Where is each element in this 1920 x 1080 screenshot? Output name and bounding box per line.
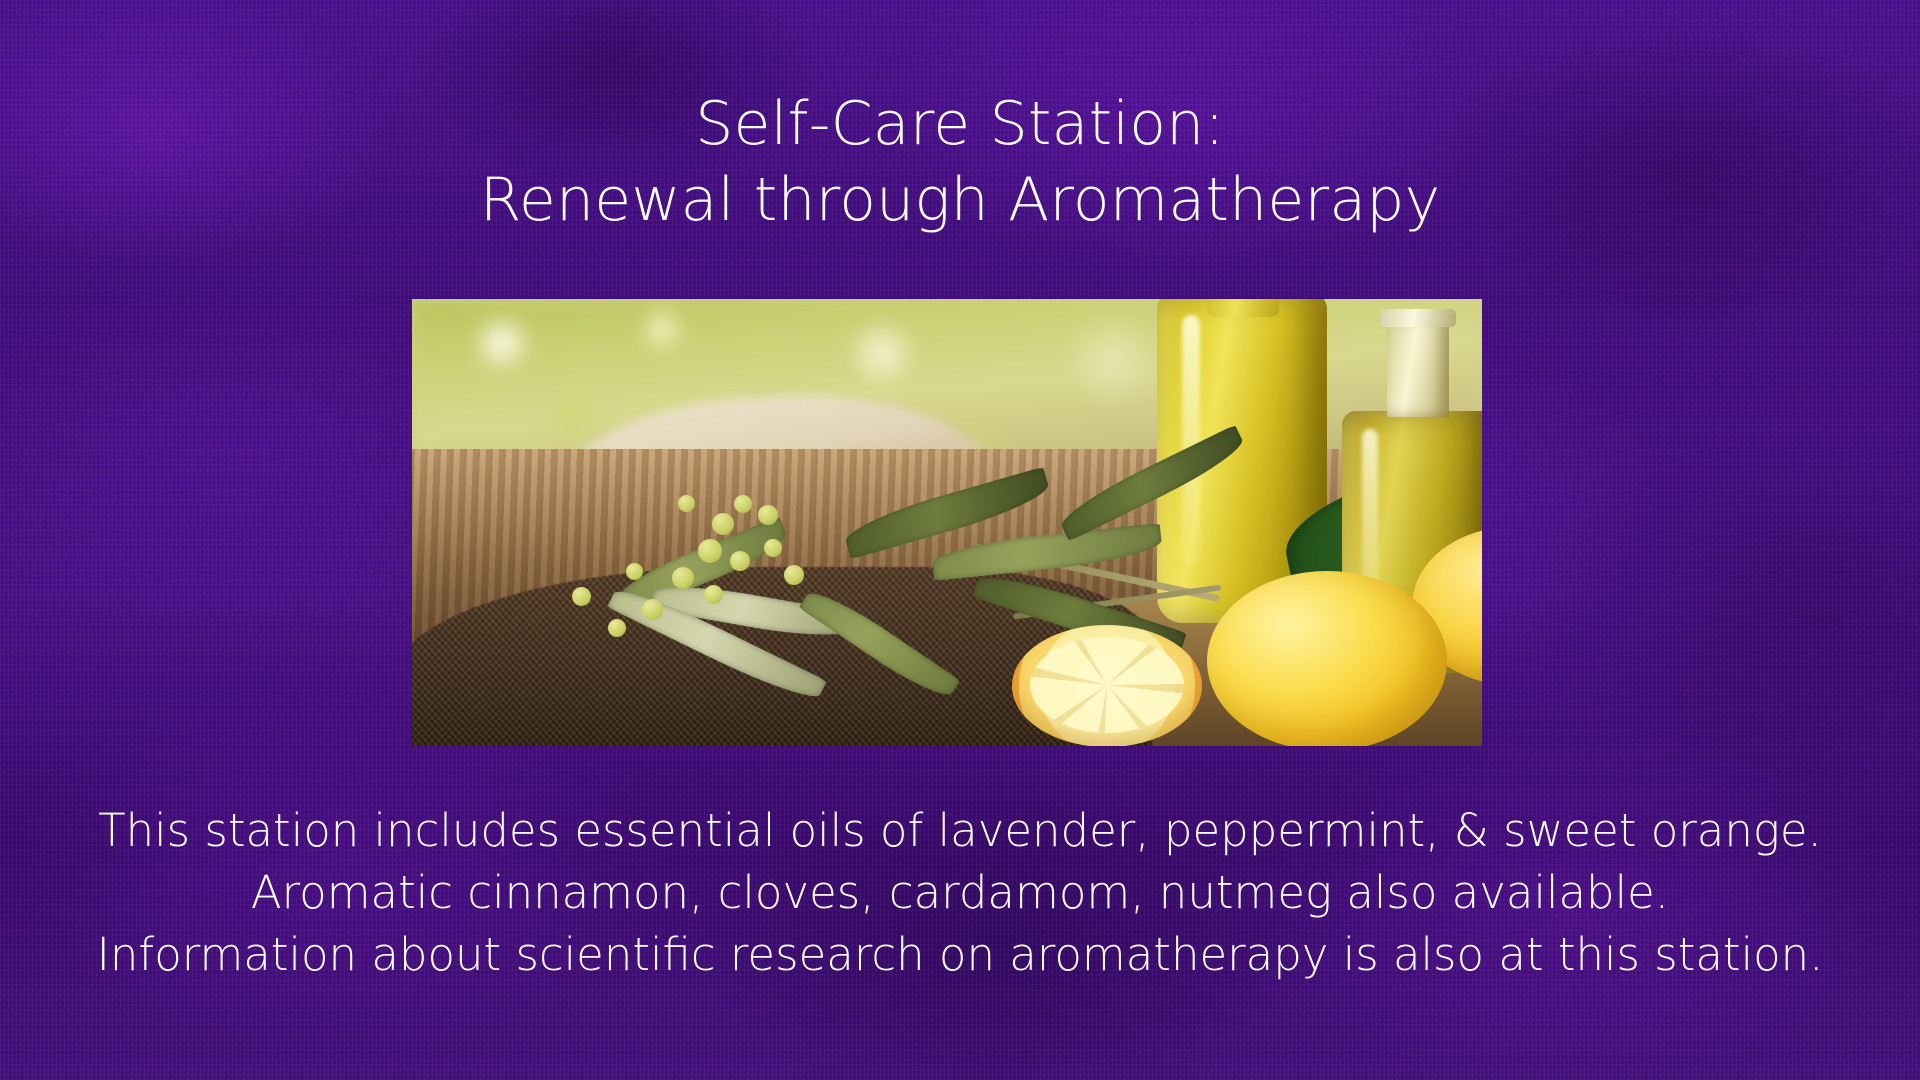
slide-title: Self-Care Station: Renewal through Aroma… bbox=[0, 86, 1920, 238]
photo-olive-bud-6 bbox=[672, 567, 694, 589]
body-line-2: Aromatic cinnamon, cloves, cardamom, nut… bbox=[0, 862, 1920, 924]
title-line-2: Renewal through Aromatherapy bbox=[0, 162, 1920, 238]
presentation-slide: Self-Care Station: Renewal through Aroma… bbox=[0, 0, 1920, 1080]
photo-oil-bottle-large-highlight bbox=[1182, 315, 1200, 565]
photo-olive-bud-14 bbox=[626, 563, 643, 580]
photo-olive-bud-2 bbox=[734, 495, 752, 513]
photo-olive-bud-10 bbox=[764, 539, 782, 557]
photo-olive-bud-11 bbox=[784, 565, 804, 585]
photo-lemon-slice-segments bbox=[1030, 637, 1184, 733]
photo-olive-bud-4 bbox=[698, 539, 722, 563]
body-line-1: This station includes essential oils of … bbox=[0, 800, 1920, 862]
title-line-1: Self-Care Station: bbox=[0, 86, 1920, 162]
photo-lemon-front bbox=[1207, 571, 1447, 746]
photo-olive-bud-5 bbox=[730, 551, 750, 571]
aromatherapy-essential-oils-photo bbox=[412, 299, 1482, 746]
photo-olive-bud-3 bbox=[758, 505, 778, 525]
photo-oil-bottle-large-neck bbox=[1207, 299, 1279, 317]
photo-olive-bud-13 bbox=[678, 495, 695, 512]
photo-olive-bud-12 bbox=[572, 587, 591, 606]
photo-olive-bud-8 bbox=[642, 599, 663, 620]
photo-oil-bottle-front-lip bbox=[1380, 309, 1456, 327]
photo-olive-bud-9 bbox=[608, 619, 626, 637]
photo-olive-bud-1 bbox=[712, 513, 734, 535]
photo-olive-bud-7 bbox=[704, 585, 723, 604]
photo-oil-bottle-front-neck bbox=[1387, 317, 1449, 417]
slide-body-text: This station includes essential oils of … bbox=[0, 800, 1920, 986]
body-line-3: Information about scientific research on… bbox=[0, 924, 1920, 986]
